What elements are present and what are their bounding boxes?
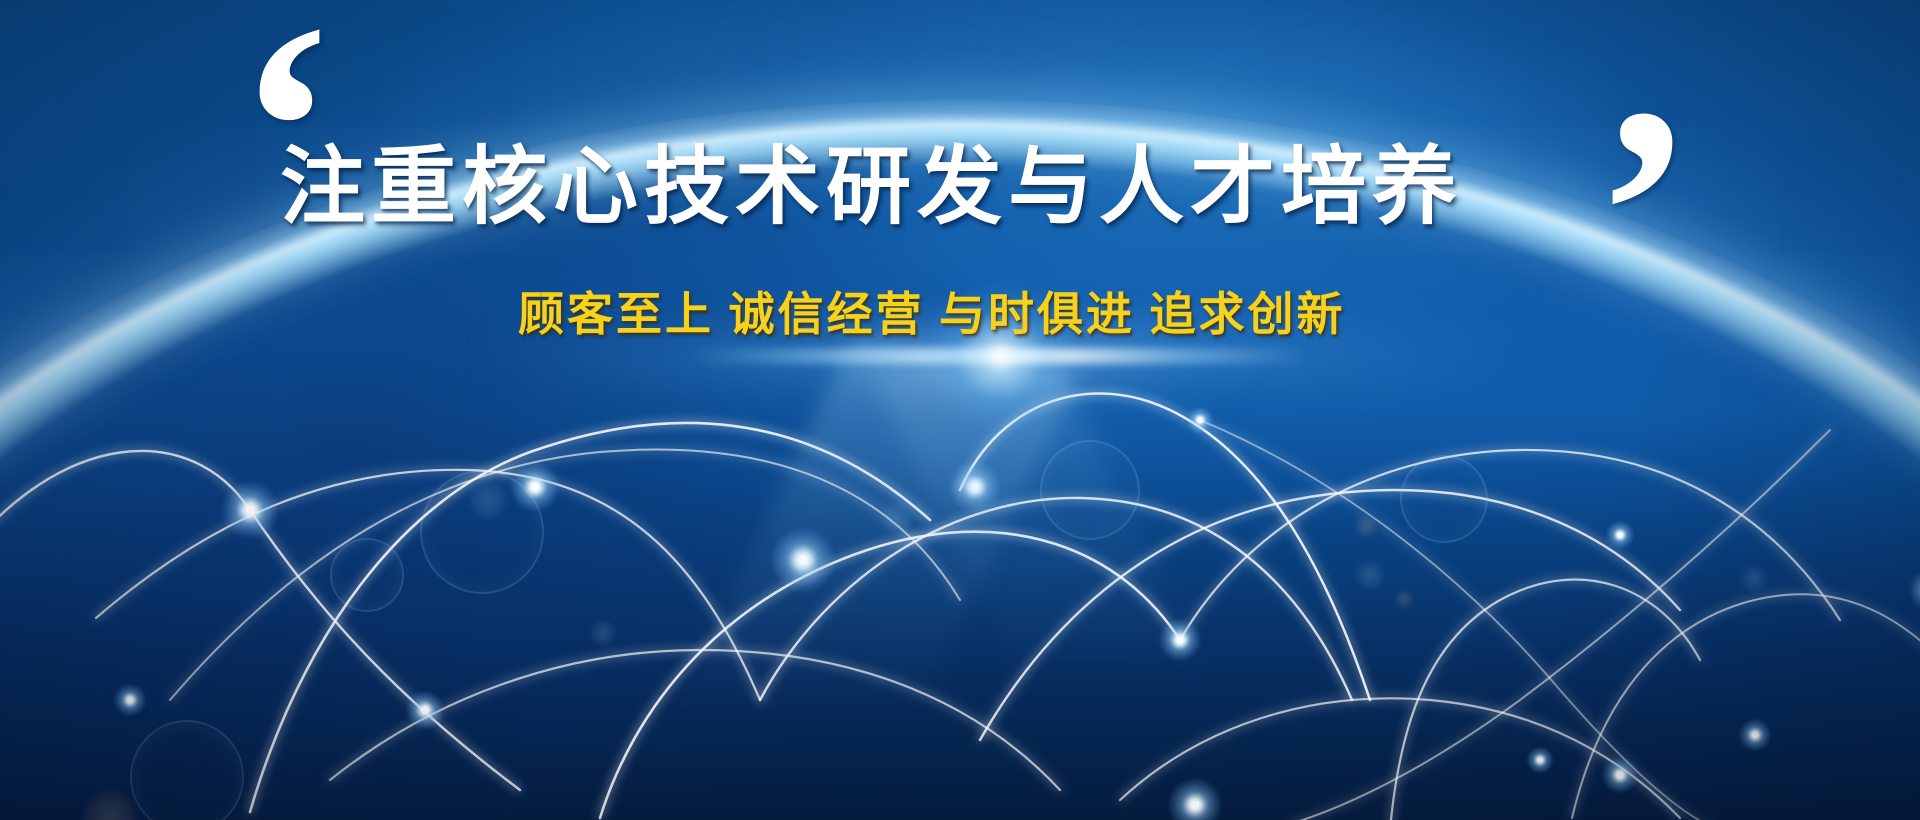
closing-quote-icon: ’ (1594, 62, 1694, 362)
page-subtitle: 顾客至上 诚信经营 与时俱进 追求创新 (518, 278, 1346, 344)
page-title: 注重核心技术研发与人才培养 (280, 118, 1463, 241)
promo-banner: ‘ 注重核心技术研发与人才培养 顾客至上 诚信经营 与时俱进 追求创新 ’ (0, 0, 1920, 820)
